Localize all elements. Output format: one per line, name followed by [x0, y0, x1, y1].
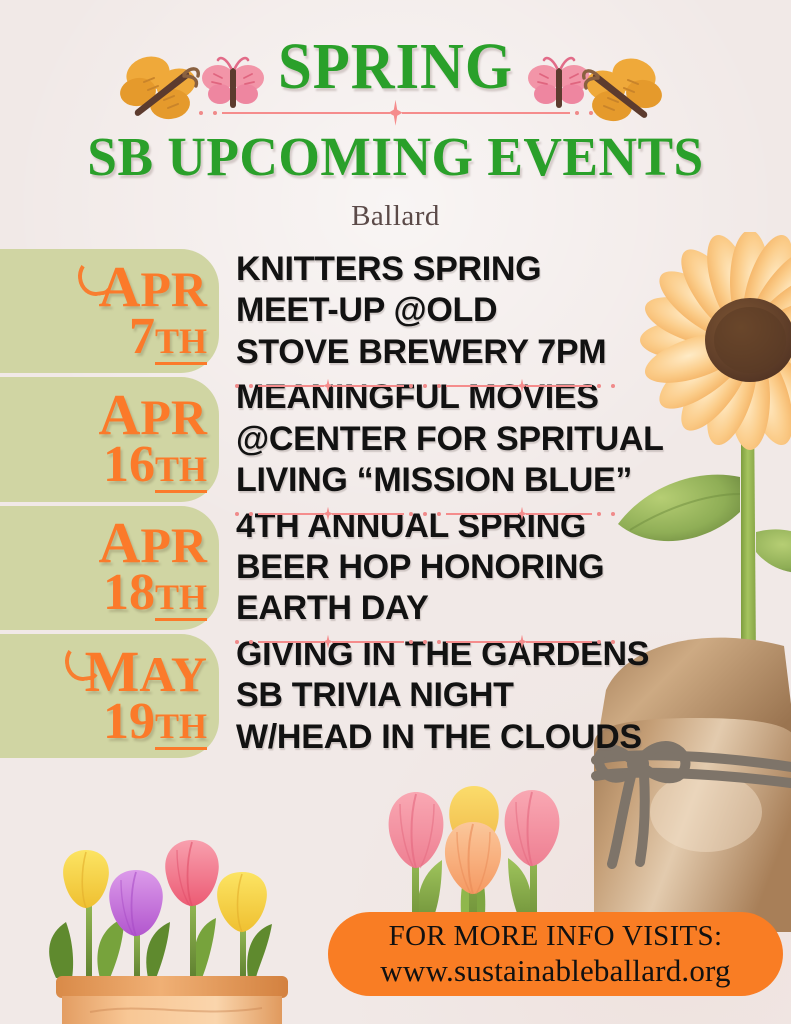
event-month-initial: M: [85, 639, 140, 704]
event-line: EARTH DAY: [236, 588, 785, 629]
event-date-badge: APR 18TH: [0, 506, 219, 630]
event-month-initial: A: [98, 510, 140, 575]
poster-canvas: SPRING SB UPCOMING EVENTS Ballard APR 7T…: [0, 0, 791, 1024]
event-date-month: APR: [98, 261, 207, 312]
more-info-label: FOR MORE INFO VISITS:: [389, 920, 723, 953]
event-month-initial: A: [98, 254, 140, 319]
event-day-ordinal: TH: [155, 577, 207, 621]
event-month-rest: AY: [139, 646, 207, 702]
event-line: LIVING “MISSION BLUE”: [236, 460, 785, 501]
location-label: Ballard: [0, 200, 791, 233]
event-date-month: APR: [98, 389, 207, 440]
tulips-center-illustration: [358, 786, 588, 926]
ornament-dot: [213, 111, 217, 115]
event-line: BEER HOP HONORING: [236, 547, 785, 588]
event-day-ordinal: TH: [155, 449, 207, 493]
event-description: KNITTERS SPRING MEET-UP @OLD STOVE BREWE…: [219, 249, 791, 373]
ornament-dot: [199, 111, 203, 115]
header-ornament-divider: [166, 105, 626, 121]
event-line: MEANINGFUL MOVIES: [236, 377, 785, 418]
ornament-diamond-icon: [389, 100, 403, 126]
event-line: MEET-UP @OLD: [236, 290, 785, 331]
website-url-link[interactable]: www.sustainableballard.org: [380, 953, 730, 989]
event-month-rest: PR: [140, 261, 207, 317]
events-list: APR 7TH KNITTERS SPRING MEET-UP @OLD STO…: [0, 249, 791, 759]
event-date-day: 18TH: [103, 570, 207, 616]
event-description: MEANINGFUL MOVIES @CENTER FOR SPRITUAL L…: [219, 377, 791, 501]
poster-header: SPRING SB UPCOMING EVENTS Ballard: [0, 0, 791, 233]
event-row: APR 16TH MEANINGFUL MOVIES @CENTER FOR S…: [0, 377, 791, 501]
event-line: KNITTERS SPRING: [236, 249, 785, 290]
event-row: APR 7TH KNITTERS SPRING MEET-UP @OLD STO…: [0, 249, 791, 373]
ornament-dot: [589, 111, 593, 115]
event-month-rest: PR: [140, 389, 207, 445]
event-date-day: 7TH: [129, 314, 207, 360]
ornament-line: [222, 112, 390, 114]
event-line: STOVE BREWERY 7PM: [236, 332, 785, 373]
ornament-line: [402, 112, 570, 114]
event-line: W/HEAD IN THE CLOUDS: [236, 717, 785, 758]
event-line: 4TH ANNUAL SPRING: [236, 506, 785, 547]
event-date-month: APR: [98, 517, 207, 568]
event-row: MAY 19TH GIVING IN THE GARDENS SB TRIVIA…: [0, 634, 791, 758]
more-info-banner[interactable]: FOR MORE INFO VISITS: www.sustainablebal…: [328, 912, 783, 996]
page-subtitle: SB UPCOMING EVENTS: [12, 129, 779, 184]
event-date-month: MAY: [85, 646, 207, 697]
event-date-day: 16TH: [103, 442, 207, 488]
event-line: @CENTER FOR SPRITUAL: [236, 419, 785, 460]
event-day-ordinal: TH: [155, 706, 207, 750]
tulip-pot-illustration: [0, 826, 330, 1024]
event-month-rest: PR: [140, 517, 207, 573]
event-description: GIVING IN THE GARDENS SB TRIVIA NIGHT W/…: [219, 634, 791, 758]
event-date-badge: APR 16TH: [0, 377, 219, 501]
event-line: SB TRIVIA NIGHT: [236, 675, 785, 716]
event-month-initial: A: [98, 382, 140, 447]
event-date-badge: MAY 19TH: [0, 634, 219, 758]
event-day-ordinal: TH: [155, 321, 207, 365]
event-description: 4TH ANNUAL SPRING BEER HOP HONORING EART…: [219, 506, 791, 630]
page-title: SPRING: [32, 36, 760, 99]
event-line: GIVING IN THE GARDENS: [236, 634, 785, 675]
event-row: APR 18TH 4TH ANNUAL SPRING BEER HOP HONO…: [0, 506, 791, 630]
ornament-dot: [575, 111, 579, 115]
event-date-day: 19TH: [103, 699, 207, 745]
event-date-badge: APR 7TH: [0, 249, 219, 373]
